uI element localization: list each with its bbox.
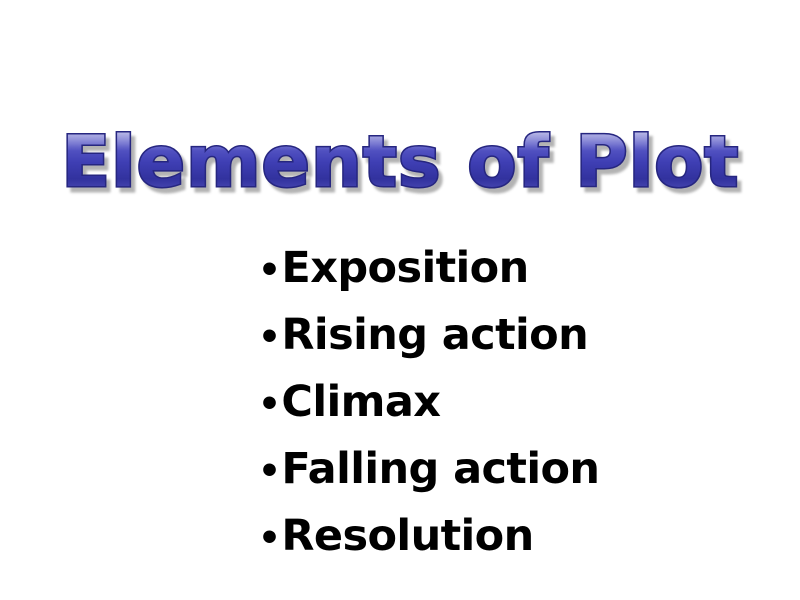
list-item: • Exposition [258,236,778,303]
list-item: • Resolution [258,504,778,571]
list-item: • Rising action [258,303,778,370]
list-item: • Falling action [258,437,778,504]
wordart-title: Elements of Plot Elements of Plot Elemen… [61,127,739,197]
bullet-point-icon: • [258,239,280,303]
bullet-point-icon: • [258,373,280,437]
presentation-slide: Elements of Plot Elements of Plot Elemen… [0,0,800,600]
wordart-gradient-layer: Elements of Plot [61,127,739,197]
list-item-label: Exposition [281,236,528,300]
list-item-label: Rising action [281,303,588,367]
list-item-label: Falling action [281,437,599,501]
bullet-point-icon: • [258,507,280,571]
list-item-label: Climax [281,370,440,434]
slide-title: Elements of Plot Elements of Plot Elemen… [0,112,800,212]
bullet-point-icon: • [258,306,280,370]
list-item-label: Resolution [281,504,533,568]
list-item: • Climax [258,370,778,437]
bullet-point-icon: • [258,440,280,504]
bullet-list: • Exposition • Rising action • Climax • … [258,236,778,571]
